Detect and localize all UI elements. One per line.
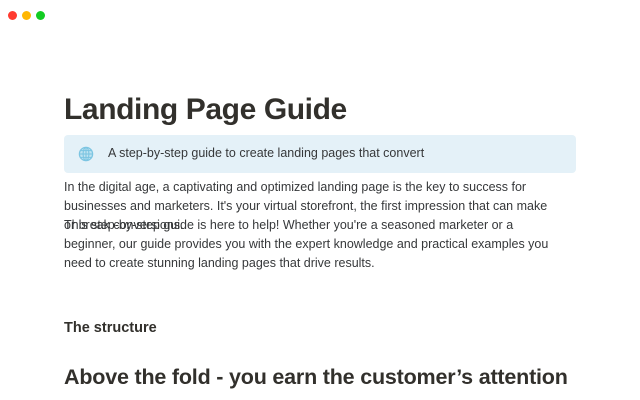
maximize-window-button[interactable] xyxy=(36,11,45,20)
app-window: Landing Page Guide A step-by-step guide … xyxy=(0,0,640,400)
document-canvas: Landing Page Guide A step-by-step guide … xyxy=(0,30,640,400)
minimize-window-button[interactable] xyxy=(22,11,31,20)
subheading-the-structure: The structure xyxy=(64,319,157,338)
window-controls xyxy=(8,11,45,20)
page-title: Landing Page Guide xyxy=(64,92,347,128)
close-window-button[interactable] xyxy=(8,11,17,20)
callout-text: A step-by-step guide to create landing p… xyxy=(108,145,424,163)
section-heading-above-the-fold: Above the fold - you earn the customer’s… xyxy=(64,364,568,392)
globe-icon xyxy=(78,146,94,162)
body-paragraph: This step-by-step guide is here to help!… xyxy=(64,216,554,273)
title-bar xyxy=(0,0,640,30)
callout-banner: A step-by-step guide to create landing p… xyxy=(64,135,576,173)
